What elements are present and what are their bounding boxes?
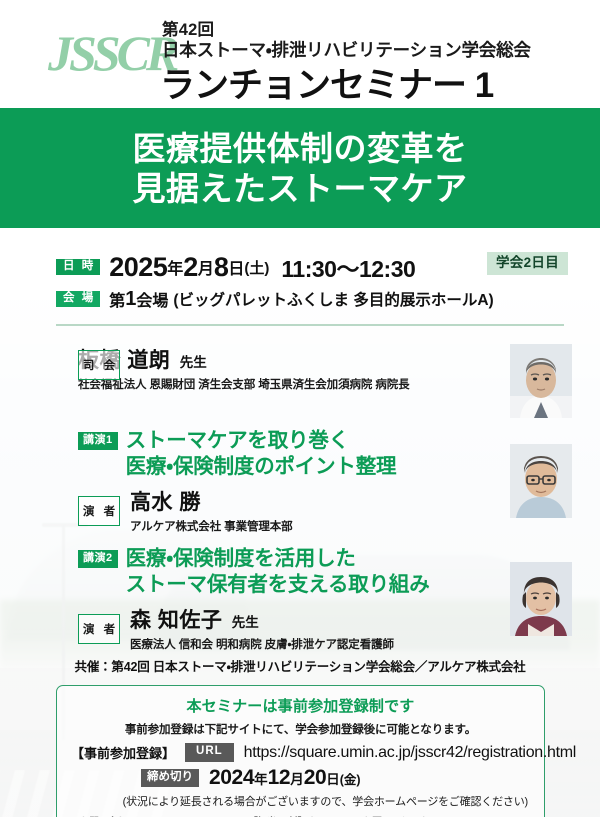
lecture-title-line-2: 医療・保険制度のポイント整理 [126,454,397,480]
conference-day-badge: 学会2日目 [487,252,568,275]
seminar-title: ランチョンセミナー 1 [160,57,493,108]
date-day: 8 [214,252,229,283]
registration-deadline-line: 締め切り 2024 年 12 月 20 日 (金) [71,766,530,790]
lecture-heading: 講演2 医療・保険制度を活用した ストーマ保有者を支える取り組み [78,546,504,598]
chair-affiliation: 社会福祉法人 恩賜財団 済生会支部 埼玉県済生会加須病院 病院長 [78,376,504,392]
lecture-speaker-affiliation: アルケア株式会社 事業管理本部 [130,518,504,534]
deadline-day-unit: 日 [326,768,340,788]
date-time-range: 11:30〜12:30 [281,250,415,284]
lecture-speaker-role-label: 演 者 [78,496,120,526]
date-tag: 日 時 [56,259,100,276]
venue-row: 会 場 第 1 会場 (ビッグパレットふくしま 多目的展示ホールA) [56,284,600,314]
registration-label: 【事前参加登録】 [71,743,175,762]
cohost-line: 共催：第42回 日本ストーマ・排泄リハビリテーション学会総会／アルケア株式会社 [0,656,600,675]
lecture-title-line-1: 医療・保険制度を活用した [126,546,430,572]
section-divider [56,324,564,326]
lecture-title: ストーマケアを取り巻く 医療・保険制度のポイント整理 [126,428,397,480]
lecture-speaker-affiliation: 医療法人 信和会 明和病院 皮膚・排泄ケア認定看護師 [130,636,504,652]
lecture-title-line-2: ストーマ保有者を支える取り組み [126,572,430,598]
deadline-day-of-week: (金) [340,769,361,788]
chair-portrait-image [510,344,572,418]
venue-suffix: 会場 [136,287,168,311]
lecture1-portrait-image [510,444,572,518]
registration-url[interactable]: https://square.umin.ac.jp/jsscr42/regist… [244,744,576,762]
lecture-tag: 講演2 [78,550,118,568]
chair-honorific: 先生 [180,355,207,370]
date-month-unit: 月 [198,255,214,279]
date-year: 2025 [109,252,167,283]
banner-title-line-1: 医療提供体制の変革を [133,129,468,169]
title-banner: 医療提供体制の変革を 見据えたストーマケア [0,108,600,228]
lecture-speaker-name: 森 知佐子 [130,604,222,634]
jsscr-logo: JSSCR [48,14,160,92]
deadline-month: 12 [268,766,291,790]
flyer-page: JSSCR 第42回 日本ストーマ・排泄リハビリテーション学会総会 ランチョンセ… [0,0,600,817]
lecture-speaker-honorific: 先生 [232,615,259,630]
registration-url-line: 【事前参加登録】 URL https://square.umin.ac.jp/j… [71,743,530,762]
chair-speaker: 板橋 道朗 先生 社会福祉法人 恩賜財団 済生会支部 埼玉県済生会加須病院 病院… [78,344,504,392]
lecture-speaker: 高水 勝 アルケア株式会社 事業管理本部 [78,486,504,534]
lecture-title-line-1: ストーマケアを取り巻く [126,428,397,454]
lecture-speaker: 森 知佐子 先生 医療法人 信和会 明和病院 皮膚・排泄ケア認定看護師 [78,604,504,652]
lecture-block: 講演2 医療・保険制度を活用した ストーマ保有者を支える取り組み 演 者 森 知… [0,546,600,650]
lecture-block: 講演1 ストーマケアを取り巻く 医療・保険制度のポイント整理 演 者 高水 勝 … [0,428,600,532]
lecture-tag: 講演1 [78,432,118,450]
schedule-info: 日 時 2025 年 2 月 8 日 (土) 11:30〜12:30 学会2日目… [0,250,600,318]
venue-tag: 会 場 [56,291,100,308]
lecture2-speaker-portrait [510,562,572,636]
deadline-tag: 締め切り [141,769,199,788]
lecture-heading: 講演1 ストーマケアを取り巻く 医療・保険制度のポイント整理 [78,428,504,480]
banner-title-line-2: 見据えたストーマケア [133,169,468,209]
venue-number: 1 [125,288,136,311]
lecture2-portrait-image [510,562,572,636]
deadline-year-unit: 年 [254,768,268,788]
date-month: 2 [183,252,198,283]
lecture-speaker-name: 高水 勝 [130,486,201,516]
chair-portrait [510,344,572,418]
lecture-title: 医療・保険制度を活用した ストーマ保有者を支える取り組み [126,546,430,598]
venue-prefix: 第 [109,287,125,311]
deadline-month-unit: 月 [290,768,304,788]
registration-note: (状況により延長される場合がございますので、学会ホームページをご確認ください) [71,793,530,809]
date-day-of-week: (土) [244,257,269,278]
chair-role-label: 司 会 [78,350,120,380]
chair-block: 司 会 板橋 道朗 先生 社会福祉法人 恩賜財団 済生会支部 埼玉県済生会加須病… [0,344,600,414]
registration-box: 本セミナーは事前参加登録制です 事前参加登録は下記サイトにて、学会参加登録後に可… [56,685,545,817]
venue-detail: (ビッグパレットふくしま 多目的展示ホールA) [173,288,493,310]
deadline-day: 20 [304,766,327,790]
lecture-speaker-role-label: 演 者 [78,614,120,644]
registration-subheading: 事前参加登録は下記サイトにて、学会参加登録後に可能となります。 [71,721,530,737]
date-year-unit: 年 [167,255,183,279]
url-tag: URL [185,743,234,762]
deadline-year: 2024 [209,766,254,790]
date-day-unit: 日 [228,255,244,279]
lecture1-speaker-portrait [510,444,572,518]
header: JSSCR 第42回 日本ストーマ・排泄リハビリテーション学会総会 ランチョンセ… [0,0,600,108]
registration-heading: 本セミナーは事前参加登録制です [71,695,530,716]
